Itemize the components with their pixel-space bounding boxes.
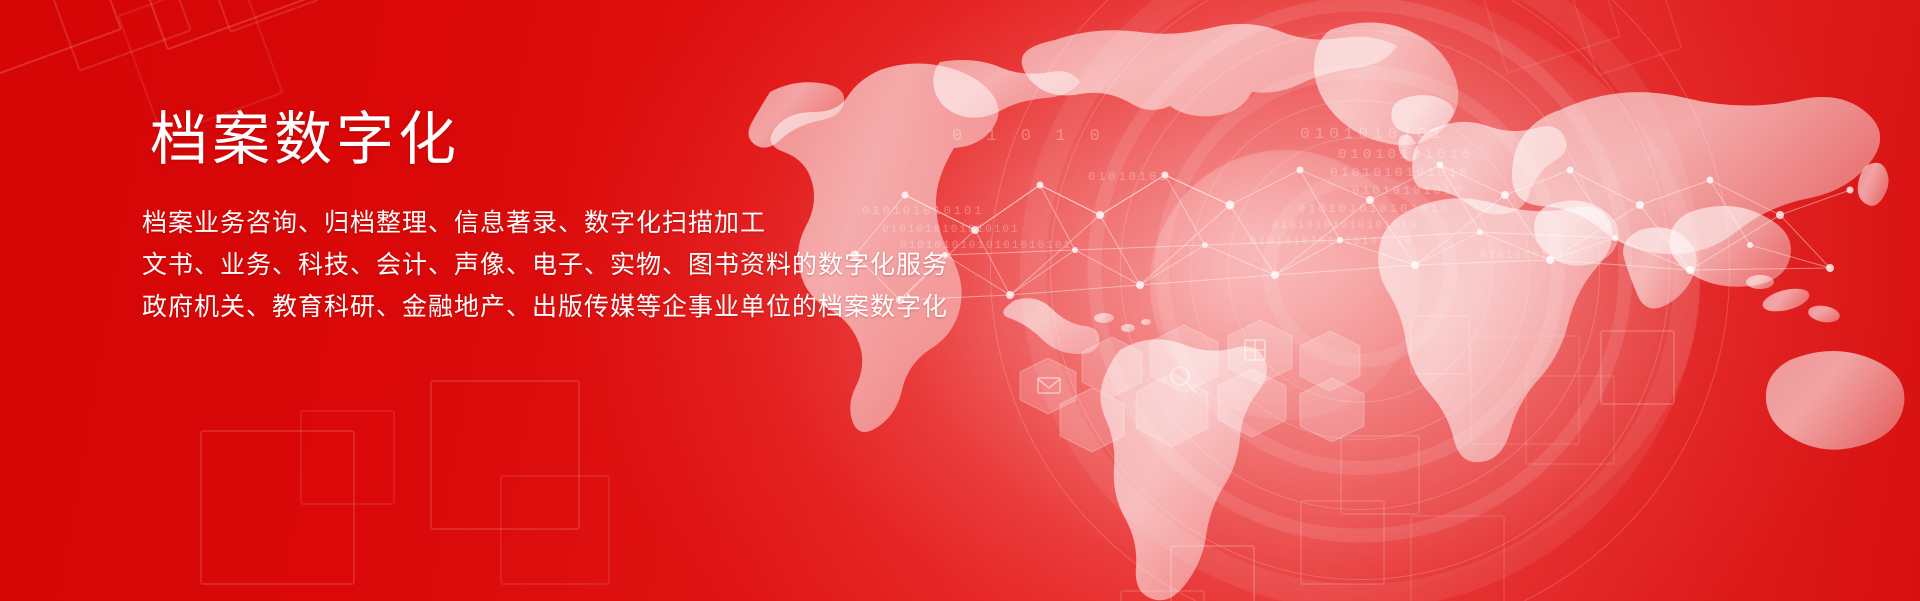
- service-line-2: 文书、业务、科技、会计、声像、电子、实物、图书资料的数字化服务: [142, 244, 1092, 286]
- hero-banner: 0 1 0 1 0 0101010101 01010101010 0101010…: [0, 0, 1920, 601]
- page-title: 档案数字化: [150, 104, 1092, 176]
- svg-text:01010101010: 01010101010: [1338, 147, 1474, 163]
- service-list: 档案业务咨询、归档整理、信息著录、数字化扫描加工 文书、业务、科技、会计、声像、…: [142, 202, 1092, 328]
- svg-text:010101010101: 010101010101: [1480, 250, 1583, 262]
- service-line-1: 档案业务咨询、归档整理、信息著录、数字化扫描加工: [142, 202, 1092, 244]
- service-line-3: 政府机关、教育科研、金融地产、出版传媒等企事业单位的档案数字化: [142, 286, 1092, 328]
- svg-text:01010101: 01010101: [1088, 170, 1170, 184]
- globe-sphere: [1150, 150, 1420, 420]
- svg-text:0101010101: 0101010101: [1300, 125, 1446, 143]
- banner-copy: 档案数字化 档案业务咨询、归档整理、信息著录、数字化扫描加工 文书、业务、科技、…: [142, 104, 1092, 328]
